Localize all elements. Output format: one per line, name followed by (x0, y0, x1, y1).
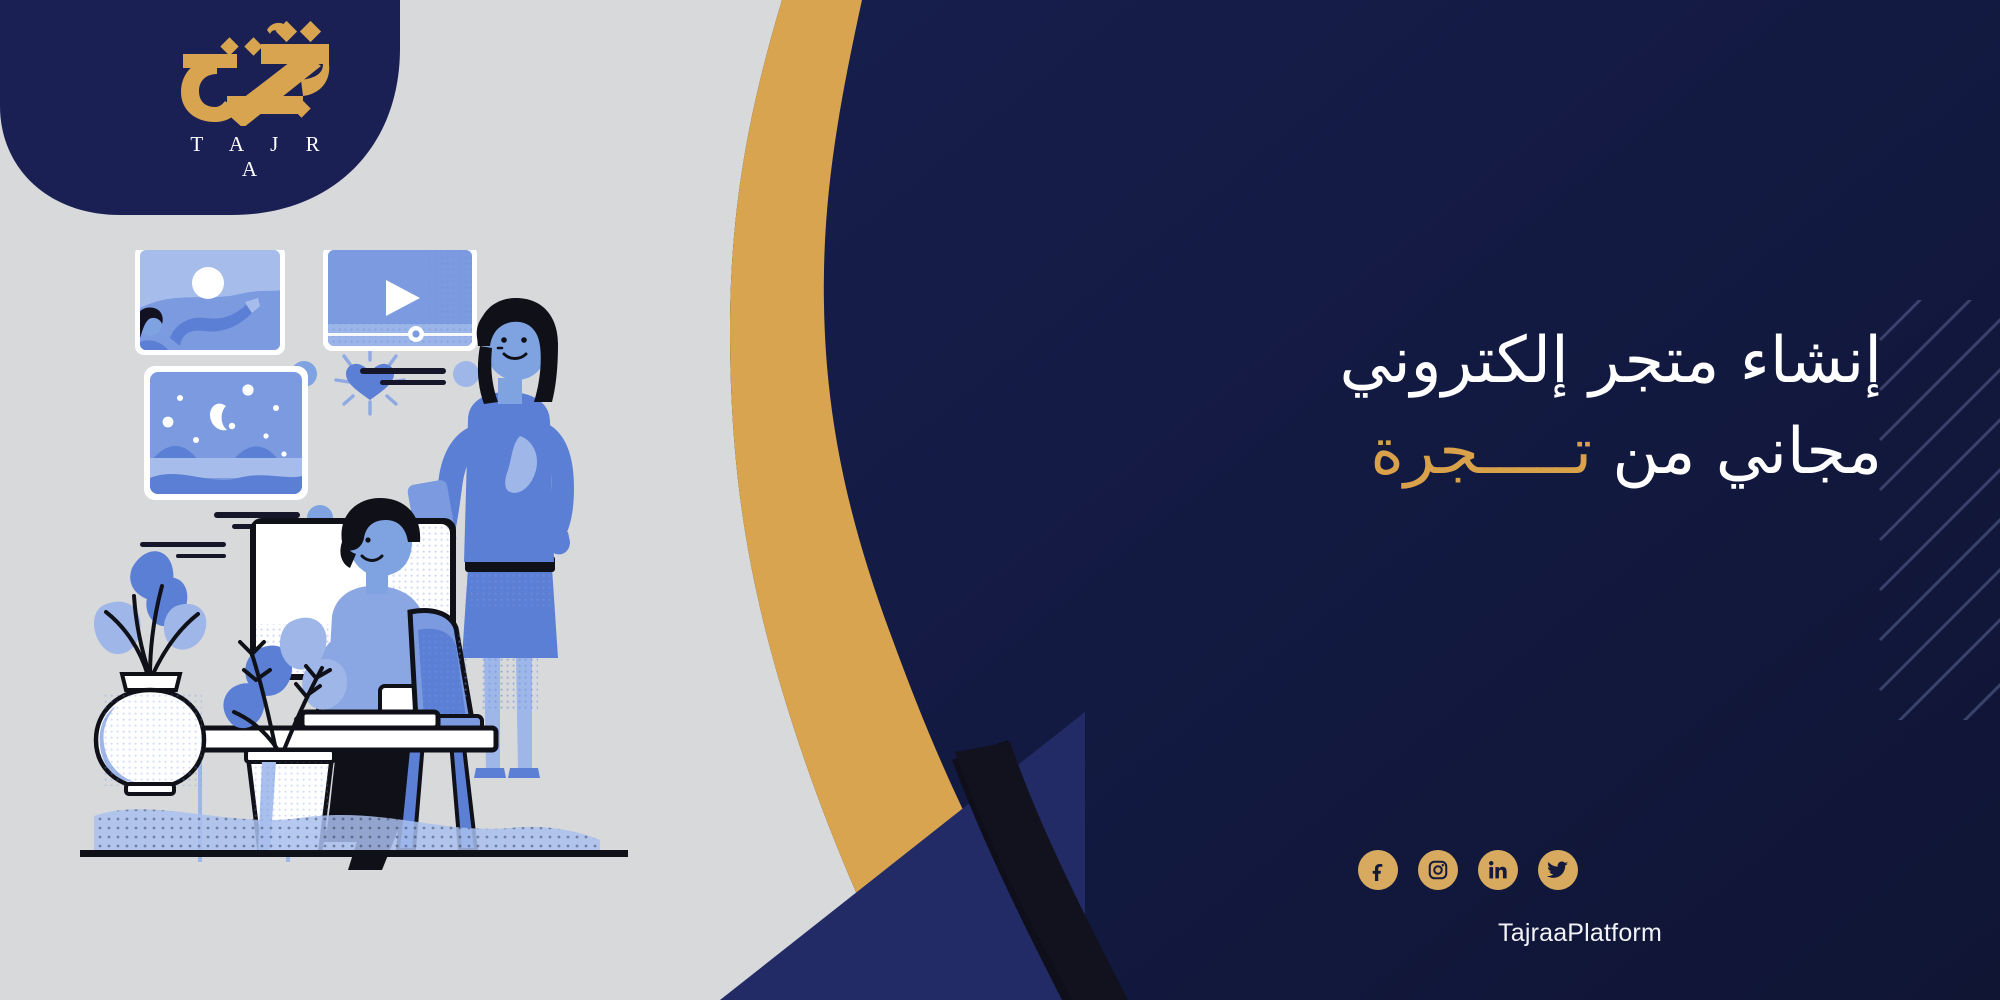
night-sky-photo-card (144, 366, 308, 500)
logo-wordmark: T A J R A (160, 132, 350, 182)
brand-logo[interactable]: T A J R A (160, 18, 350, 178)
instagram-icon (1427, 859, 1449, 881)
linkedin-icon (1487, 859, 1509, 881)
promo-banner: T A J R A (0, 0, 2000, 1000)
headline-line-2-white: مجاني من (1612, 415, 1882, 489)
platform-handle: TajraaPlatform (1498, 919, 1662, 948)
social-link-instagram[interactable] (1418, 850, 1458, 890)
headline-line-2-gold: تـــــجرة (1370, 415, 1592, 489)
social-link-facebook[interactable] (1358, 850, 1398, 890)
headline-line-1: إنشاء متجر إلكتروني (1062, 316, 1882, 407)
social-link-twitter[interactable] (1538, 850, 1578, 890)
floor-rug (94, 809, 600, 856)
social-link-linkedin[interactable] (1478, 850, 1518, 890)
headline-block: إنشاء متجر إلكتروني مجاني من تـــــجرة (1062, 316, 1882, 498)
video-player-card (323, 250, 477, 351)
twitter-icon (1547, 859, 1569, 881)
floor-line (80, 850, 628, 857)
headline-line-2: مجاني من تـــــجرة (1062, 407, 1882, 498)
workspace-illustration (80, 250, 800, 870)
facebook-icon (1367, 859, 1389, 881)
beach-photo-card (131, 250, 285, 355)
tajra-arabic-logotype-icon (171, 18, 339, 126)
round-vase-plant (94, 551, 206, 794)
social-links (1358, 850, 1578, 890)
